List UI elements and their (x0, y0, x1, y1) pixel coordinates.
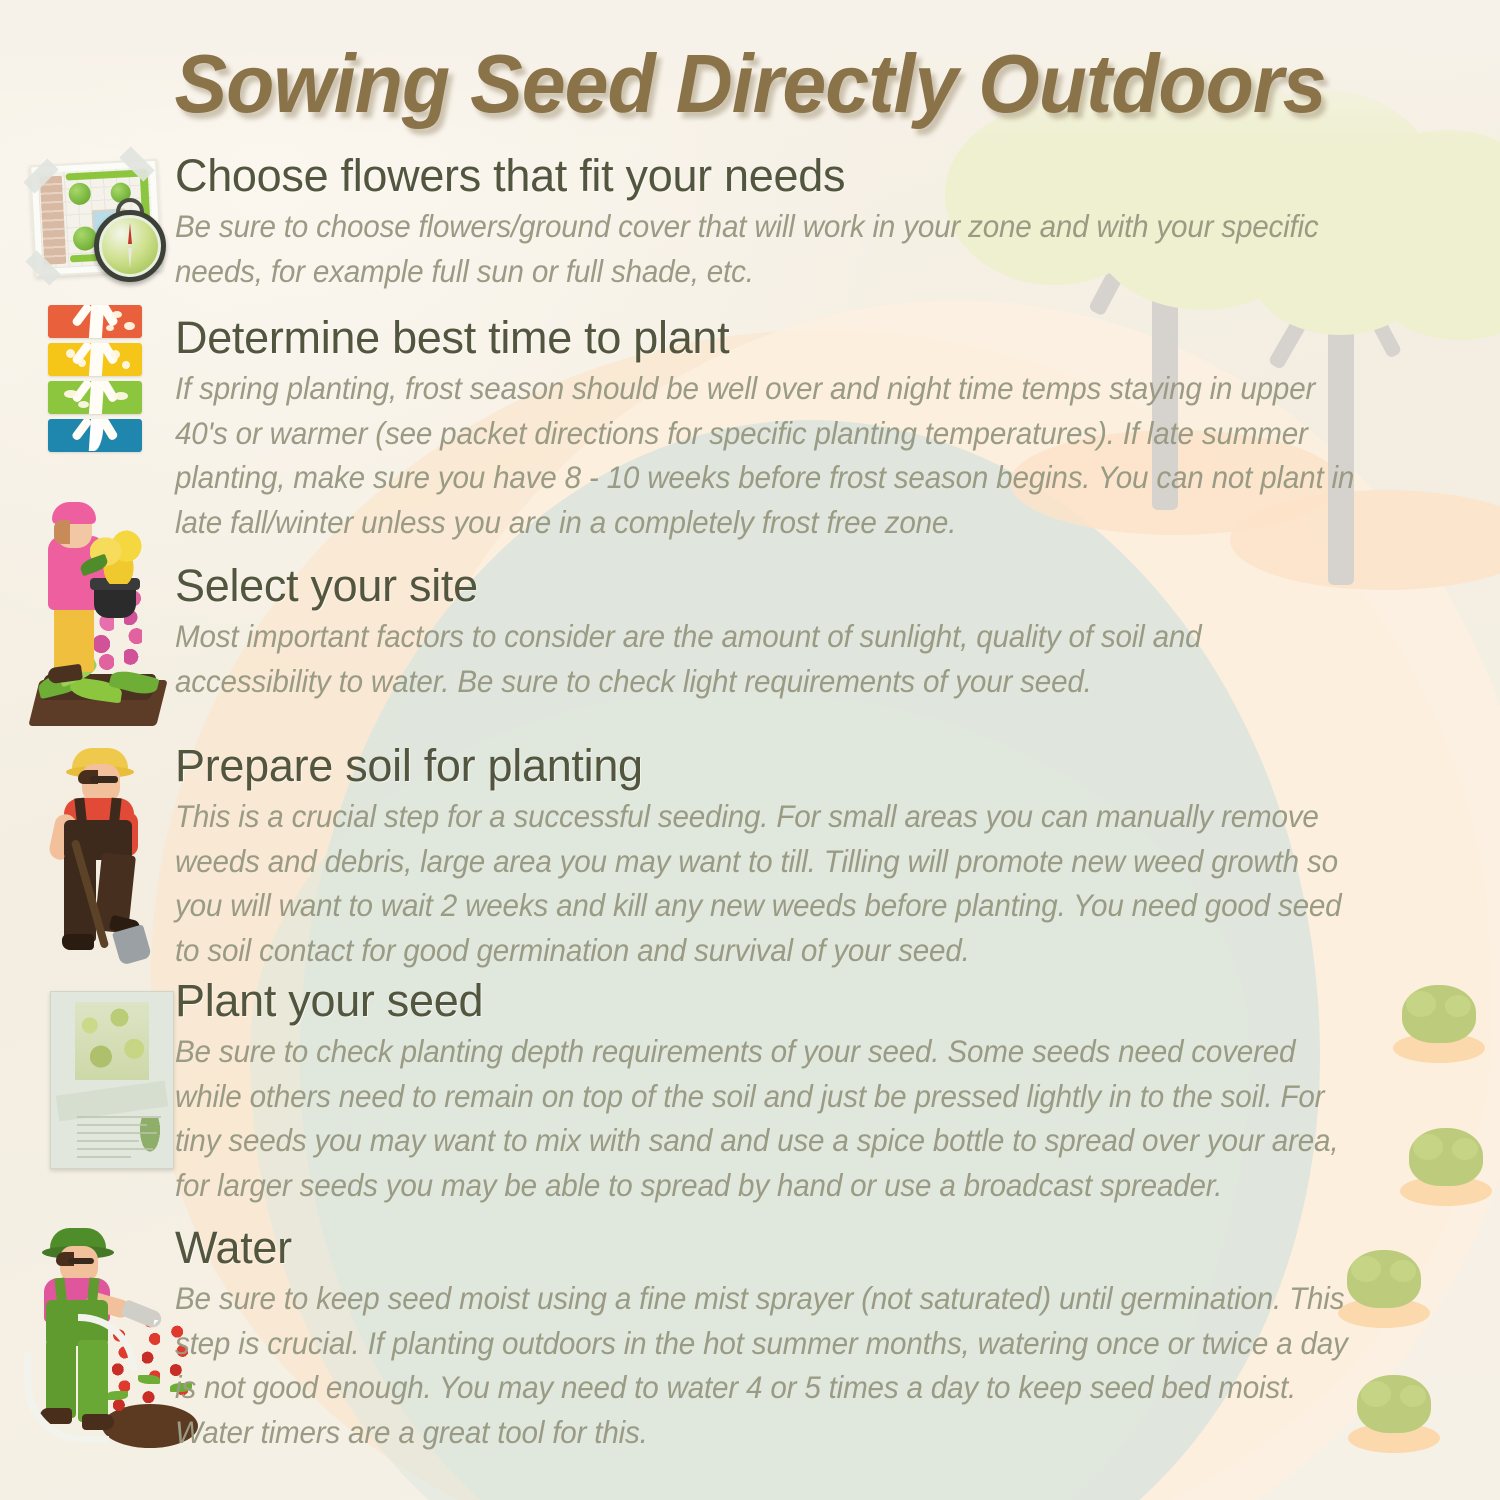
step-icon-3-slot (28, 500, 168, 730)
blossom-dot (66, 349, 75, 358)
four-seasons-icon (40, 305, 150, 455)
step-6-body: Be sure to keep seed moist using a fine … (175, 1276, 1364, 1455)
leaf-dot (106, 325, 114, 331)
tree-silhouette (89, 343, 105, 376)
step-3-body: Most important factors to consider are t… (175, 614, 1364, 703)
plan-brick-path (40, 176, 67, 265)
gardener-sunglasses (90, 776, 118, 783)
garden-plan-compass-icon (22, 152, 168, 284)
gardener-sunglasses (68, 1258, 94, 1264)
step-5-heading: Plant your seed (175, 975, 1440, 1027)
step-2-body: If spring planting, frost season should … (175, 366, 1364, 545)
tree-silhouette (89, 305, 105, 338)
step-4-body: This is a crucial step for a successful … (175, 794, 1364, 973)
seed-packet-photo (75, 1002, 149, 1080)
stem-leaf (138, 1375, 160, 1384)
blossom-dot (111, 350, 120, 359)
season-band-autumn (48, 305, 142, 338)
seed-packet-text-line (77, 1156, 131, 1158)
tree-silhouette (89, 381, 105, 414)
gardener-with-potted-plant-icon (28, 500, 168, 730)
step-icon-4-slot (34, 742, 174, 967)
seed-packet-icon (42, 985, 182, 1175)
step-2-heading: Determine best time to plant (175, 312, 1440, 364)
step-6: Water Be sure to keep seed moist using a… (175, 1222, 1440, 1455)
season-band-winter (48, 419, 142, 452)
step-3-heading: Select your site (175, 560, 1440, 612)
gardener-shoe (62, 934, 94, 950)
step-4-heading: Prepare soil for planting (175, 740, 1440, 792)
step-icon-6-slot (24, 1222, 200, 1450)
snow-branch-silhouette (89, 419, 105, 451)
leaf-dot (124, 322, 135, 330)
step-1-heading: Choose flowers that fit your needs (175, 150, 1440, 202)
seed-packet-text-line (77, 1148, 153, 1150)
seed-packet (50, 991, 174, 1169)
step-2: Determine best time to plant If spring p… (175, 312, 1440, 545)
leaf-dot (78, 401, 89, 408)
step-1: Choose flowers that fit your needs Be su… (175, 150, 1440, 293)
page-title: Sowing Seed Directly Outdoors (38, 36, 1463, 132)
shovel-blade (112, 924, 152, 966)
step-icon-2-slot (40, 305, 150, 455)
leaf-dot (114, 392, 128, 400)
leaf-dot (112, 311, 122, 318)
step-icon-5-slot (42, 985, 182, 1175)
seed-packet-text-line (77, 1116, 161, 1118)
garden-hose (78, 1314, 137, 1371)
step-icon-1-slot (22, 152, 168, 284)
season-band-summer (48, 381, 142, 414)
leaf-dot (64, 390, 78, 398)
gardener-with-shovel-icon (34, 742, 174, 967)
seed-packet-text-line (77, 1124, 147, 1126)
seed-packet-text-line (77, 1140, 139, 1142)
blossom-dot (122, 361, 130, 369)
step-5-body: Be sure to check planting depth requirem… (175, 1029, 1364, 1208)
stem-leaf (106, 1391, 128, 1400)
content-layer: Sowing Seed Directly Outdoors (0, 0, 1500, 1500)
gardener-hair (54, 520, 70, 544)
step-3: Select your site Most important factors … (175, 560, 1440, 703)
seed-packet-text-line (77, 1132, 157, 1134)
gardener-watering-icon (24, 1222, 200, 1450)
blossom-dot (78, 359, 86, 367)
step-4: Prepare soil for planting This is a cruc… (175, 740, 1440, 973)
step-5: Plant your seed Be sure to check plantin… (175, 975, 1440, 1208)
step-6-heading: Water (175, 1222, 1440, 1274)
gardener-legs (54, 602, 94, 672)
compass-icon (94, 210, 166, 282)
season-band-spring (48, 343, 142, 376)
infographic-poster: Sowing Seed Directly Outdoors (0, 0, 1500, 1500)
step-1-body: Be sure to choose flowers/ground cover t… (175, 204, 1364, 293)
